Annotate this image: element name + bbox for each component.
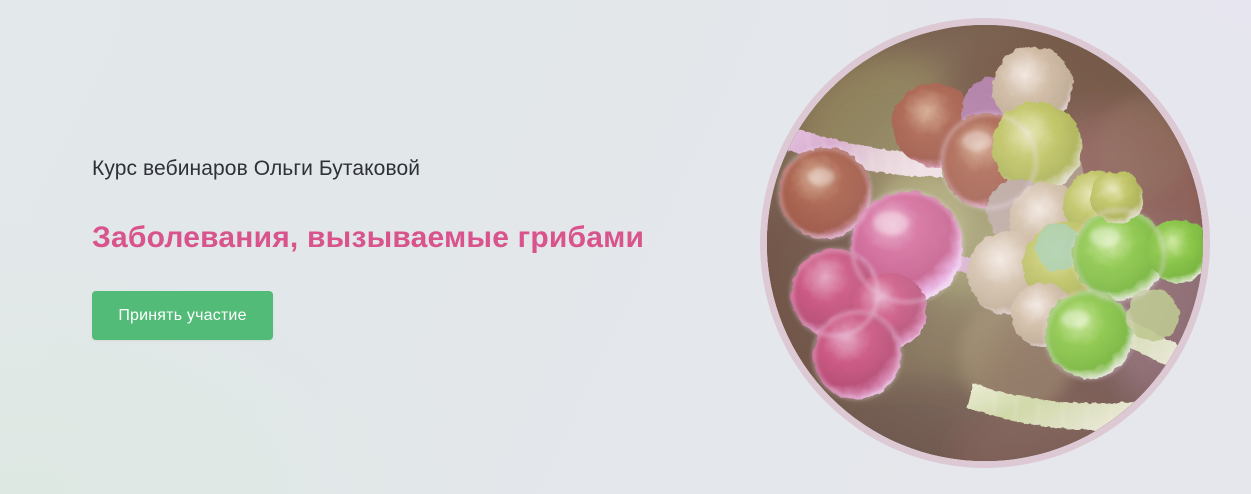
fungal-cells-micrograph bbox=[767, 25, 1203, 461]
hero-eyebrow: Курс вебинаров Ольги Бутаковой bbox=[92, 155, 420, 183]
join-button[interactable]: Принять участие bbox=[92, 291, 273, 340]
micrograph-circle bbox=[760, 18, 1210, 468]
micrograph-frame bbox=[767, 25, 1203, 461]
hero-banner: Курс вебинаров Ольги Бутаковой Заболеван… bbox=[0, 0, 1251, 494]
page-title: Заболевания, вызываемые грибами bbox=[92, 219, 644, 257]
hero-content: Курс вебинаров Ольги Бутаковой Заболеван… bbox=[92, 0, 712, 494]
